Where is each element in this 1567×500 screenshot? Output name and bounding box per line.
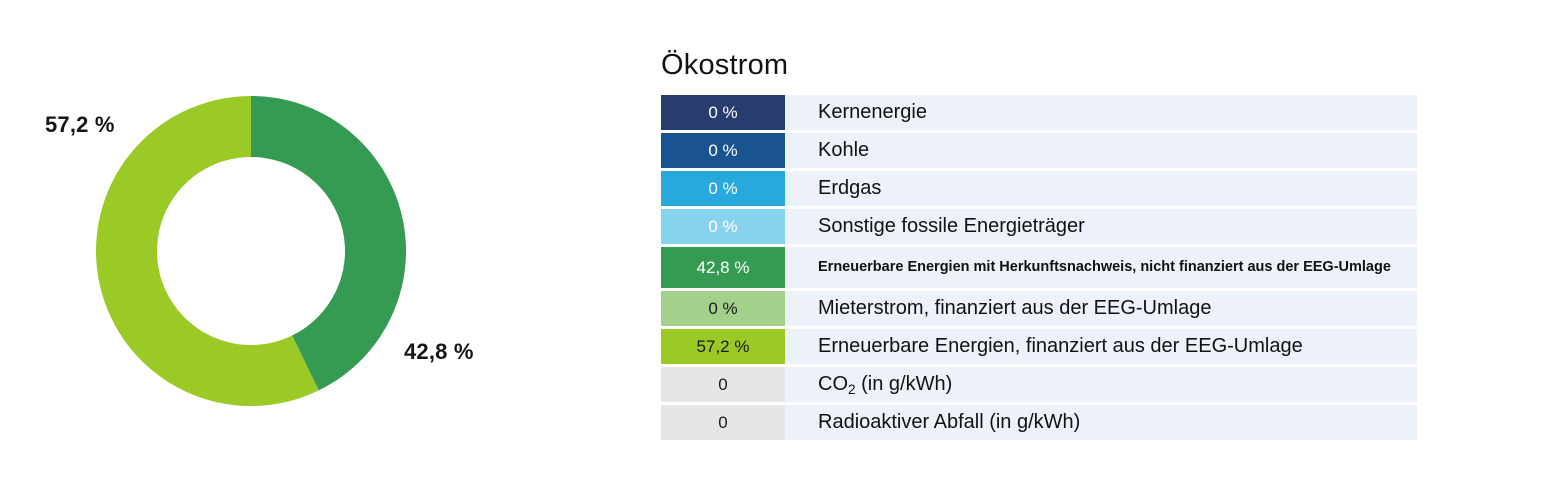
legend-label-cell: Erdgas xyxy=(785,171,1417,206)
donut-label-renewable-eeg: 57,2 % xyxy=(45,112,115,138)
legend-value-swatch: 57,2 % xyxy=(661,329,785,364)
donut-chart xyxy=(95,95,407,407)
legend-row: 57,2 %Erneuerbare Energien, finanziert a… xyxy=(661,329,1417,364)
legend-label-text: Kohle xyxy=(818,139,869,163)
legend-value-swatch: 0 xyxy=(661,367,785,402)
legend-label-text: Erdgas xyxy=(818,177,881,201)
legend-label-text: Sonstige fossile Energieträger xyxy=(818,215,1085,239)
legend-label-cell: Erneuerbare Energien, finanziert aus der… xyxy=(785,329,1417,364)
legend-row: 42,8 %Erneuerbare Energien mit Herkunfts… xyxy=(661,247,1417,288)
legend-label-cell: CO2 (in g/kWh) xyxy=(785,367,1417,402)
legend-value-swatch: 42,8 % xyxy=(661,247,785,288)
legend-row: 0 %Sonstige fossile Energieträger xyxy=(661,209,1417,244)
legend-value-swatch: 0 % xyxy=(661,95,785,130)
legend-row: 0 %Erdgas xyxy=(661,171,1417,206)
legend-label-cell: Erneuerbare Energien mit Herkunftsnachwe… xyxy=(785,247,1417,288)
legend-value-swatch: 0 % xyxy=(661,209,785,244)
legend-label-cell: Sonstige fossile Energieträger xyxy=(785,209,1417,244)
legend-value-swatch: 0 % xyxy=(661,291,785,326)
legend-row: 0 %Kernenergie xyxy=(661,95,1417,130)
legend-label-text: Kernenergie xyxy=(818,101,927,125)
legend-row: 0 %Mieterstrom, finanziert aus der EEG-U… xyxy=(661,291,1417,326)
legend-row: 0Radioaktiver Abfall (in g/kWh) xyxy=(661,405,1417,440)
legend-label-cell: Kernenergie xyxy=(785,95,1417,130)
legend-label-cell: Mieterstrom, finanziert aus der EEG-Umla… xyxy=(785,291,1417,326)
legend-row-list: 0 %Kernenergie0 %Kohle0 %Erdgas0 %Sonsti… xyxy=(661,95,1417,443)
legend-label-text: Erneuerbare Energien mit Herkunftsnachwe… xyxy=(818,258,1391,277)
legend-label-text: Erneuerbare Energien, finanziert aus der… xyxy=(818,335,1303,359)
page-title: Ökostrom xyxy=(661,49,788,82)
legend-value-swatch: 0 % xyxy=(661,133,785,168)
legend-label-cell: Radioaktiver Abfall (in g/kWh) xyxy=(785,405,1417,440)
legend-label-text: Radioaktiver Abfall (in g/kWh) xyxy=(818,411,1080,435)
legend-label-text: Mieterstrom, finanziert aus der EEG-Umla… xyxy=(818,297,1211,321)
legend-value-swatch: 0 % xyxy=(661,171,785,206)
legend-row: 0 %Kohle xyxy=(661,133,1417,168)
legend-value-swatch: 0 xyxy=(661,405,785,440)
legend-panel: Ökostrom 0 %Kernenergie0 %Kohle0 %Erdgas… xyxy=(661,0,1421,500)
donut-segments xyxy=(96,96,406,406)
donut-chart-panel: 57,2 % 42,8 % xyxy=(0,0,640,500)
donut-label-renewable-certificate: 42,8 % xyxy=(404,339,474,365)
legend-row: 0CO2 (in g/kWh) xyxy=(661,367,1417,402)
legend-label-text: CO2 (in g/kWh) xyxy=(818,373,952,397)
legend-label-cell: Kohle xyxy=(785,133,1417,168)
